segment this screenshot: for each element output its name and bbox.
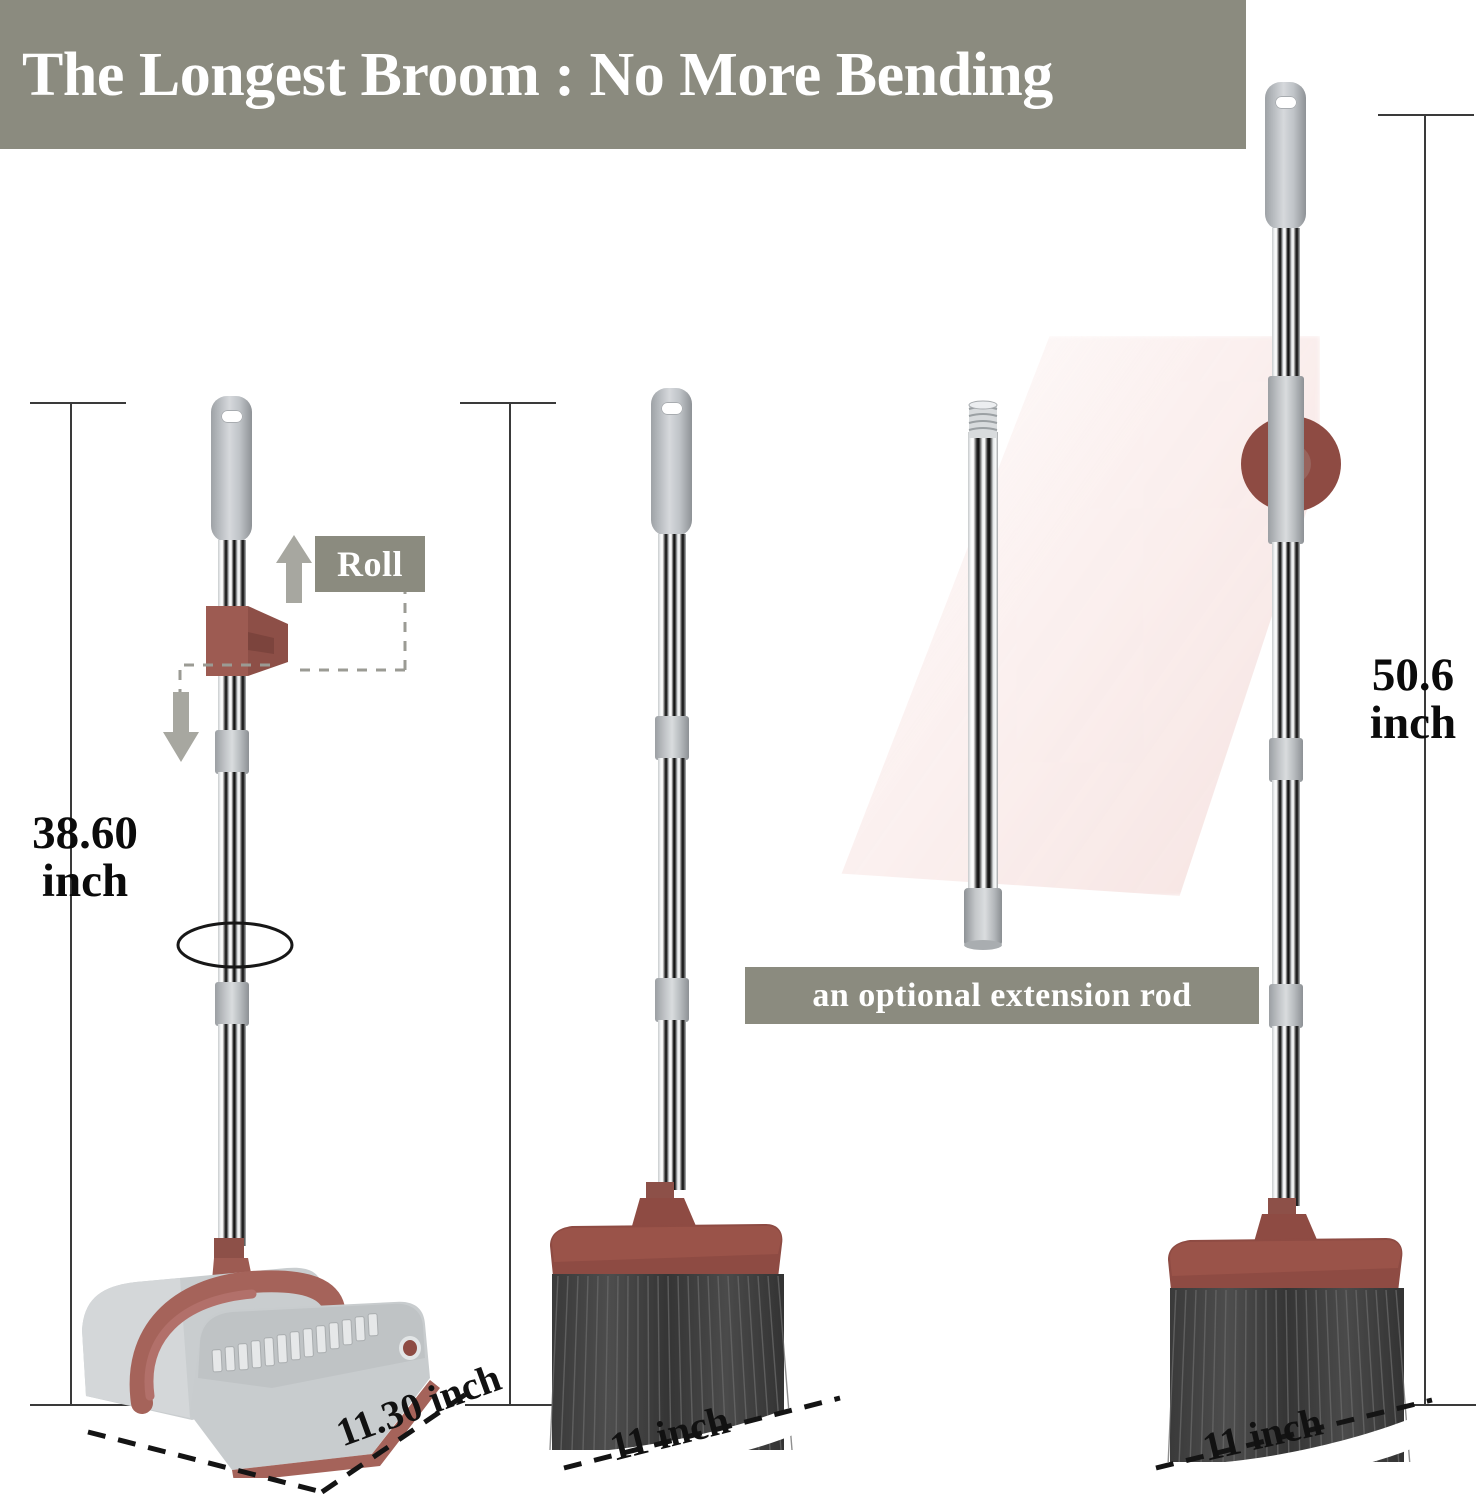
page-title: The Longest Broom : No More Bending [0, 44, 1053, 106]
dimension-left-value: 38.60 [32, 807, 138, 859]
broom3-pole-upper [1272, 542, 1300, 742]
roll-label-text: Roll [337, 543, 403, 585]
broom1-collar-lower [215, 982, 249, 1026]
broom2-collar-upper [655, 716, 689, 760]
dim-right-top-tick [1378, 114, 1474, 116]
broom3-pole-lower [1272, 1026, 1300, 1206]
broom3-grip-hanging-hole [1275, 96, 1297, 109]
broom2-pole-lower [658, 1020, 686, 1190]
broom3-collar-upper [1269, 738, 1303, 782]
extension-rod-label-text: an optional extension rod [812, 977, 1191, 1015]
dimension-left-unit: inch [42, 855, 128, 907]
roll-label-chip: Roll [315, 536, 425, 592]
broom1-grip-hanging-hole [221, 410, 243, 423]
broom3-collar-joint [1268, 376, 1304, 544]
title-banner: The Longest Broom : No More Bending [0, 0, 1246, 149]
dimension-right-unit: inch [1370, 697, 1456, 749]
dimension-label-right: 50.6 inch [1348, 652, 1478, 748]
broom1-pole-lower [218, 1024, 246, 1246]
broom3-pole-middle [1272, 780, 1300, 986]
broom2-pole-upper [658, 534, 686, 724]
broom1-rotation-ring-icon [175, 920, 295, 970]
dim-left-top-tick [30, 402, 126, 404]
broom3-pole-top [1272, 228, 1300, 380]
dim-middle-line [509, 402, 511, 1406]
infographic-canvas: The Longest Broom : No More Bending 38.6… [0, 0, 1479, 1500]
roll-arrow-down-icon [159, 690, 203, 764]
broom3-collar-lower [1269, 984, 1303, 1028]
roll-arrow-up-icon [272, 533, 316, 605]
broom2-grip-hanging-hole [661, 402, 683, 415]
dimension-right-value: 50.6 [1372, 649, 1454, 701]
dimension-label-left: 38.60 inch [10, 810, 160, 906]
extension-rod-label-chip: an optional extension rod [745, 967, 1259, 1024]
broom2-collar-lower [655, 978, 689, 1022]
dim-middle-top-tick [460, 402, 556, 404]
broom2-pole-middle [658, 758, 686, 980]
extension-rod [960, 396, 1006, 956]
